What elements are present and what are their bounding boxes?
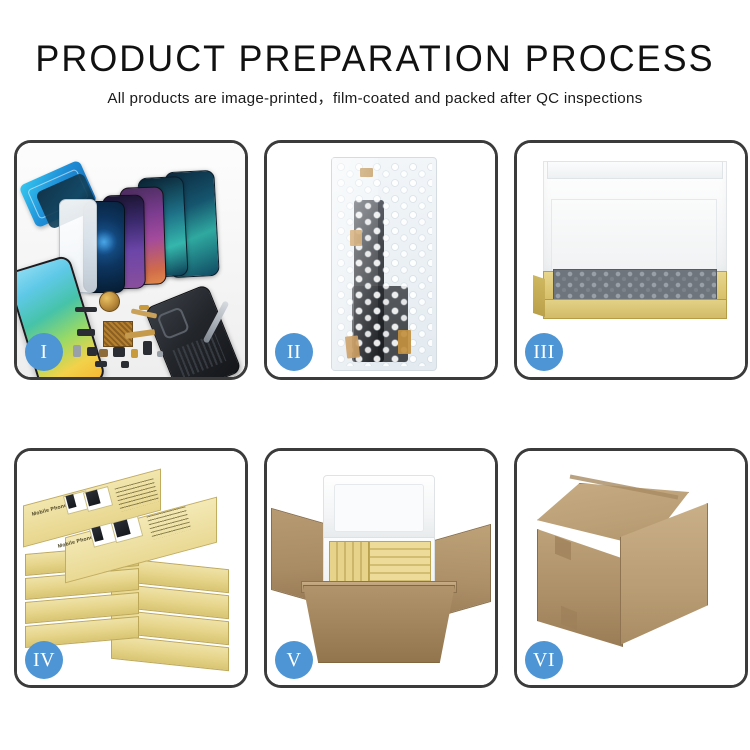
process-step-card-5: V (264, 448, 498, 688)
carton-front-panel (303, 585, 455, 663)
process-step-card-2: II (264, 140, 498, 380)
step-badge-3: III (525, 333, 563, 371)
tape-strip (398, 330, 411, 354)
page-subtitle: All products are image-printed，film-coat… (0, 88, 750, 110)
step-badge-6: VI (525, 641, 563, 679)
white-foam-sheet (551, 199, 717, 277)
step-badge-1: I (25, 333, 63, 371)
retail-boxes-inside (369, 541, 431, 585)
page-title: PRODUCT PREPARATION PROCESS (11, 38, 739, 80)
process-step-card-4: Mobile Phone Spare Parts Mobile Phone Sp… (14, 448, 248, 688)
retail-boxes-inside (329, 541, 369, 585)
clear-poly-bag (331, 157, 437, 371)
step-badge-5: V (275, 641, 313, 679)
step-badge-2: II (275, 333, 313, 371)
step-badge-4: IV (25, 641, 63, 679)
spare-parts-cluster (73, 293, 177, 375)
process-step-card-1: I (14, 140, 248, 380)
page-header: PRODUCT PREPARATION PROCESS All products… (0, 38, 750, 110)
product-preparation-process-page: PRODUCT PREPARATION PROCESS All products… (0, 0, 750, 750)
process-steps-grid: I II (14, 140, 736, 688)
process-step-card-6: VI (514, 448, 748, 688)
grey-foam-padding (553, 269, 717, 301)
foam-box-lid (323, 475, 435, 541)
process-step-card-3: III (514, 140, 748, 380)
